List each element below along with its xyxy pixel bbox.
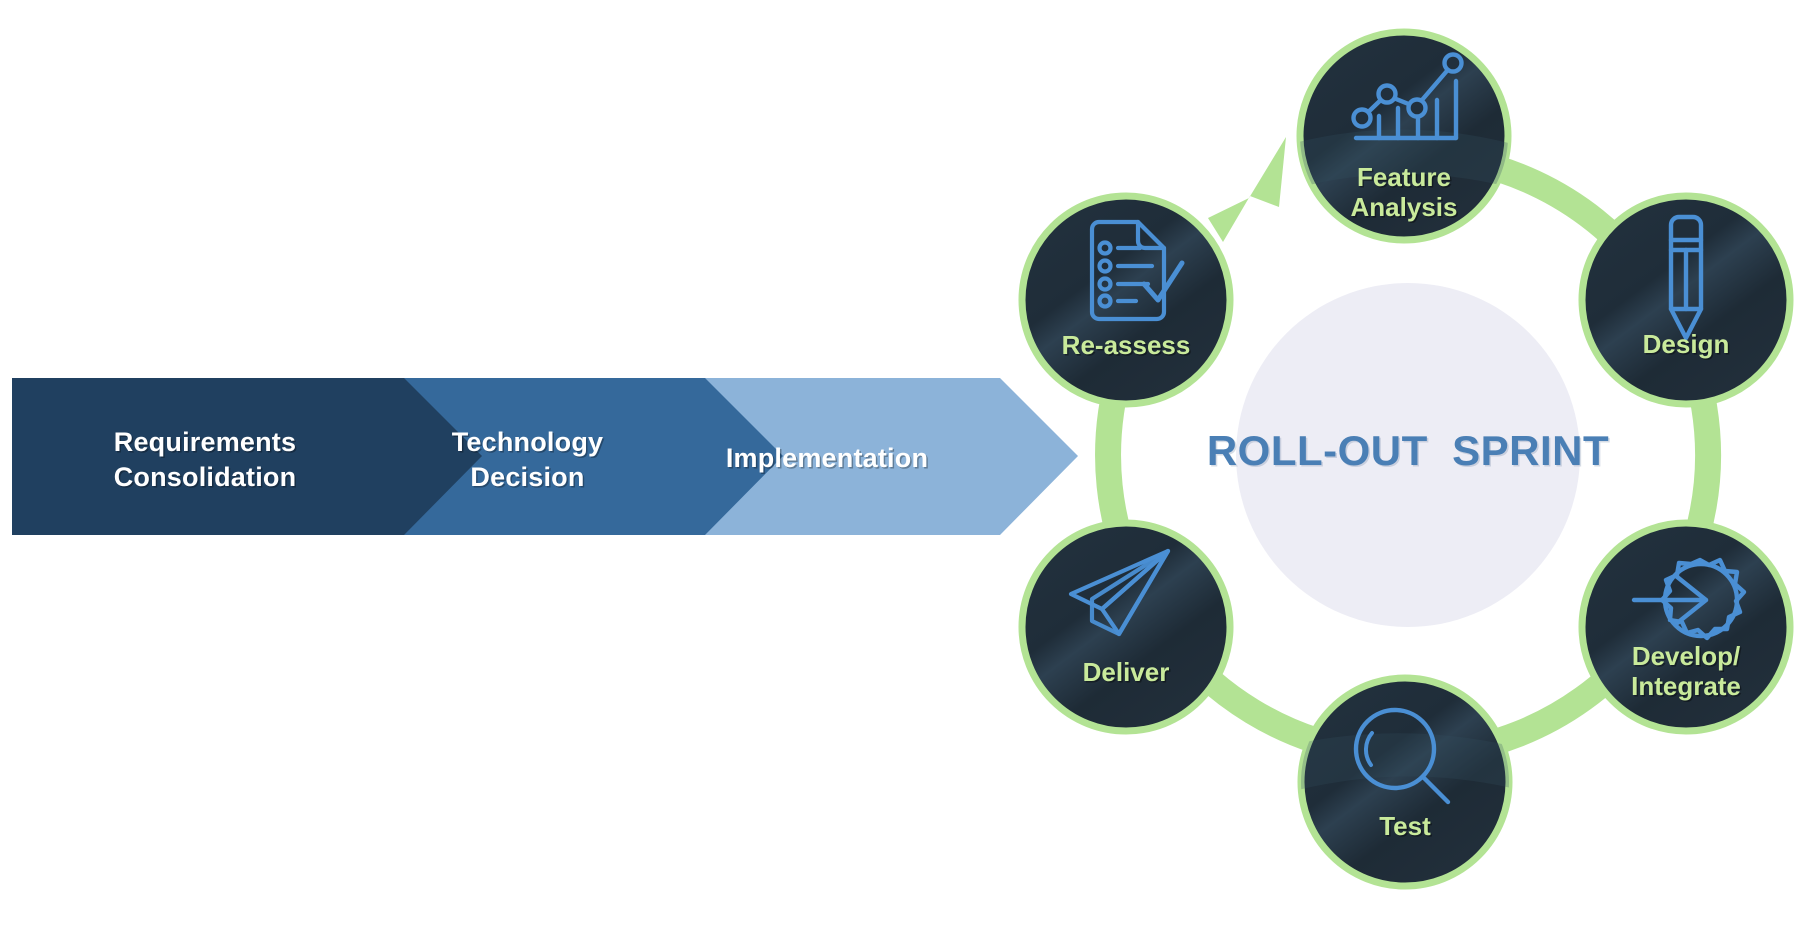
- phase-chevron-banner: [0, 0, 1820, 925]
- diagram-canvas: Requirements Consolidation Technology De…: [0, 0, 1820, 925]
- chevron-step-requirements-consolidation[interactable]: [12, 378, 482, 535]
